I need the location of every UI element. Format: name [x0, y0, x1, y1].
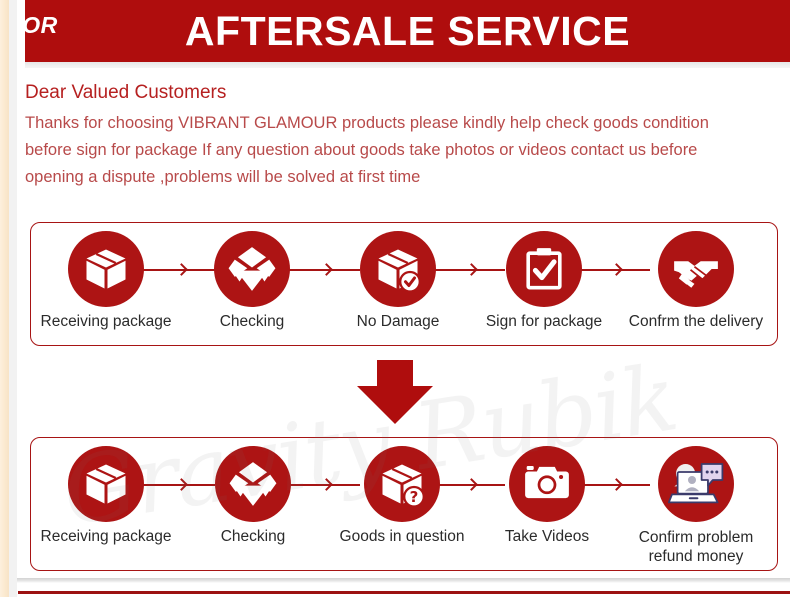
left-cream-strip: [0, 0, 9, 597]
step-checking[interactable]: Checking: [183, 223, 321, 331]
flow-row-normal: Receiving package Che: [30, 222, 778, 346]
step-sign-for-package[interactable]: Sign for package: [475, 223, 613, 331]
step-no-damage[interactable]: No Damage: [329, 223, 467, 331]
flow-row-problem: Receiving package Che: [30, 437, 778, 571]
step-label: Confrm the delivery: [629, 313, 763, 331]
step-label-line-2: refund money: [639, 547, 754, 566]
step-label: No Damage: [357, 313, 440, 331]
closed-box-icon: [68, 446, 144, 522]
camera-icon: [509, 446, 585, 522]
step-label: Take Videos: [505, 528, 589, 546]
canvas-bottom-shadow: [17, 578, 790, 583]
step-label: Receiving package: [41, 313, 172, 331]
open-box-icon: [215, 446, 291, 522]
left-shade-column: [9, 0, 17, 597]
step-label: Checking: [221, 528, 286, 546]
step-label: Confirm problem refund money: [639, 528, 754, 566]
svg-text:?: ?: [410, 488, 419, 506]
down-arrow-icon: [355, 360, 435, 428]
step-receiving-package[interactable]: Receiving package: [37, 438, 175, 546]
step-label: Sign for package: [486, 313, 602, 331]
bottom-red-rule: [18, 591, 790, 594]
intro-block: Dear Valued Customers Thanks for choosin…: [25, 80, 775, 191]
step-confirm-delivery[interactable]: Confrm the delivery: [621, 223, 771, 331]
banner-underline: [25, 62, 790, 68]
page-title: AFTERSALE SERVICE: [185, 11, 630, 52]
step-label: Receiving package: [41, 528, 172, 546]
intro-body-line-1: Thanks for choosing VIBRANT GLAMOUR prod…: [25, 110, 775, 137]
handshake-icon: [658, 231, 734, 307]
step-confirm-refund[interactable]: Confirm problem refund money: [621, 438, 771, 566]
step-receiving-package[interactable]: Receiving package: [37, 223, 175, 331]
step-label: Checking: [220, 313, 285, 331]
flow-steps-problem: Receiving package Che: [31, 438, 777, 570]
open-box-icon: [214, 231, 290, 307]
intro-heading: Dear Valued Customers: [25, 80, 775, 106]
step-checking[interactable]: Checking: [184, 438, 322, 546]
intro-body-line-3: opening a dispute ,problems will be solv…: [25, 164, 775, 191]
aftersale-service-page: AFTERSALE SERVICE Dear Valued Customers …: [0, 0, 790, 597]
step-goods-in-question[interactable]: ? Goods in question: [331, 438, 473, 546]
clipboard-check-icon: [506, 231, 582, 307]
or-divider: [355, 360, 435, 428]
box-check-icon: [360, 231, 436, 307]
step-take-videos[interactable]: Take Videos: [482, 438, 612, 546]
online-support-icon: [658, 446, 734, 522]
header-banner: AFTERSALE SERVICE: [25, 0, 790, 62]
intro-body-line-2: before sign for package If any question …: [25, 137, 775, 164]
step-label-line-1: Confirm problem: [639, 528, 754, 547]
intro-body: Thanks for choosing VIBRANT GLAMOUR prod…: [25, 110, 775, 191]
closed-box-icon: [68, 231, 144, 307]
flow-steps-normal: Receiving package Che: [31, 223, 777, 345]
box-question-icon: ?: [364, 446, 440, 522]
step-label: Goods in question: [340, 528, 465, 546]
